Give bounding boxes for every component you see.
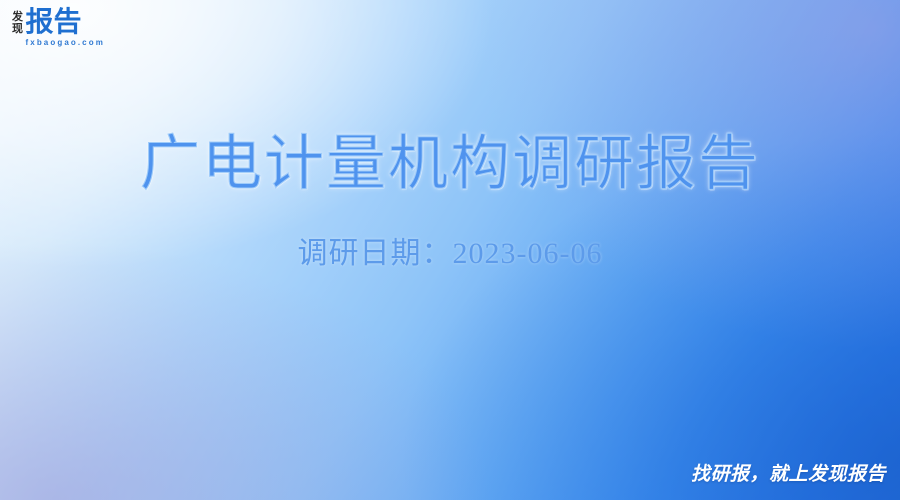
page-title: 广电计量机构调研报告: [140, 128, 760, 200]
brand-logo-main: 报告 fxbaogao.com: [26, 8, 105, 49]
report-cover-slide: 发 现 报告 fxbaogao.com 广电计量机构调研报告 调研日期：2023…: [0, 0, 900, 500]
title-block: 广电计量机构调研报告: [0, 88, 900, 240]
brand-logo-wordmark: 报告: [26, 8, 105, 36]
brand-logo-domain: fxbaogao.com: [26, 37, 105, 49]
brand-logo-char-fa: 发: [12, 11, 23, 23]
brand-logo-char-xian: 现: [12, 23, 23, 35]
brand-logo-stacked-chars: 发 现: [12, 8, 23, 35]
subtitle-block: 调研日期：2023-06-06: [0, 234, 900, 274]
survey-date-line: 调研日期：2023-06-06: [298, 234, 603, 274]
brand-tagline: 找研报，就上发现报告: [691, 464, 886, 486]
brand-logo[interactable]: 发 现 报告 fxbaogao.com: [12, 8, 105, 49]
